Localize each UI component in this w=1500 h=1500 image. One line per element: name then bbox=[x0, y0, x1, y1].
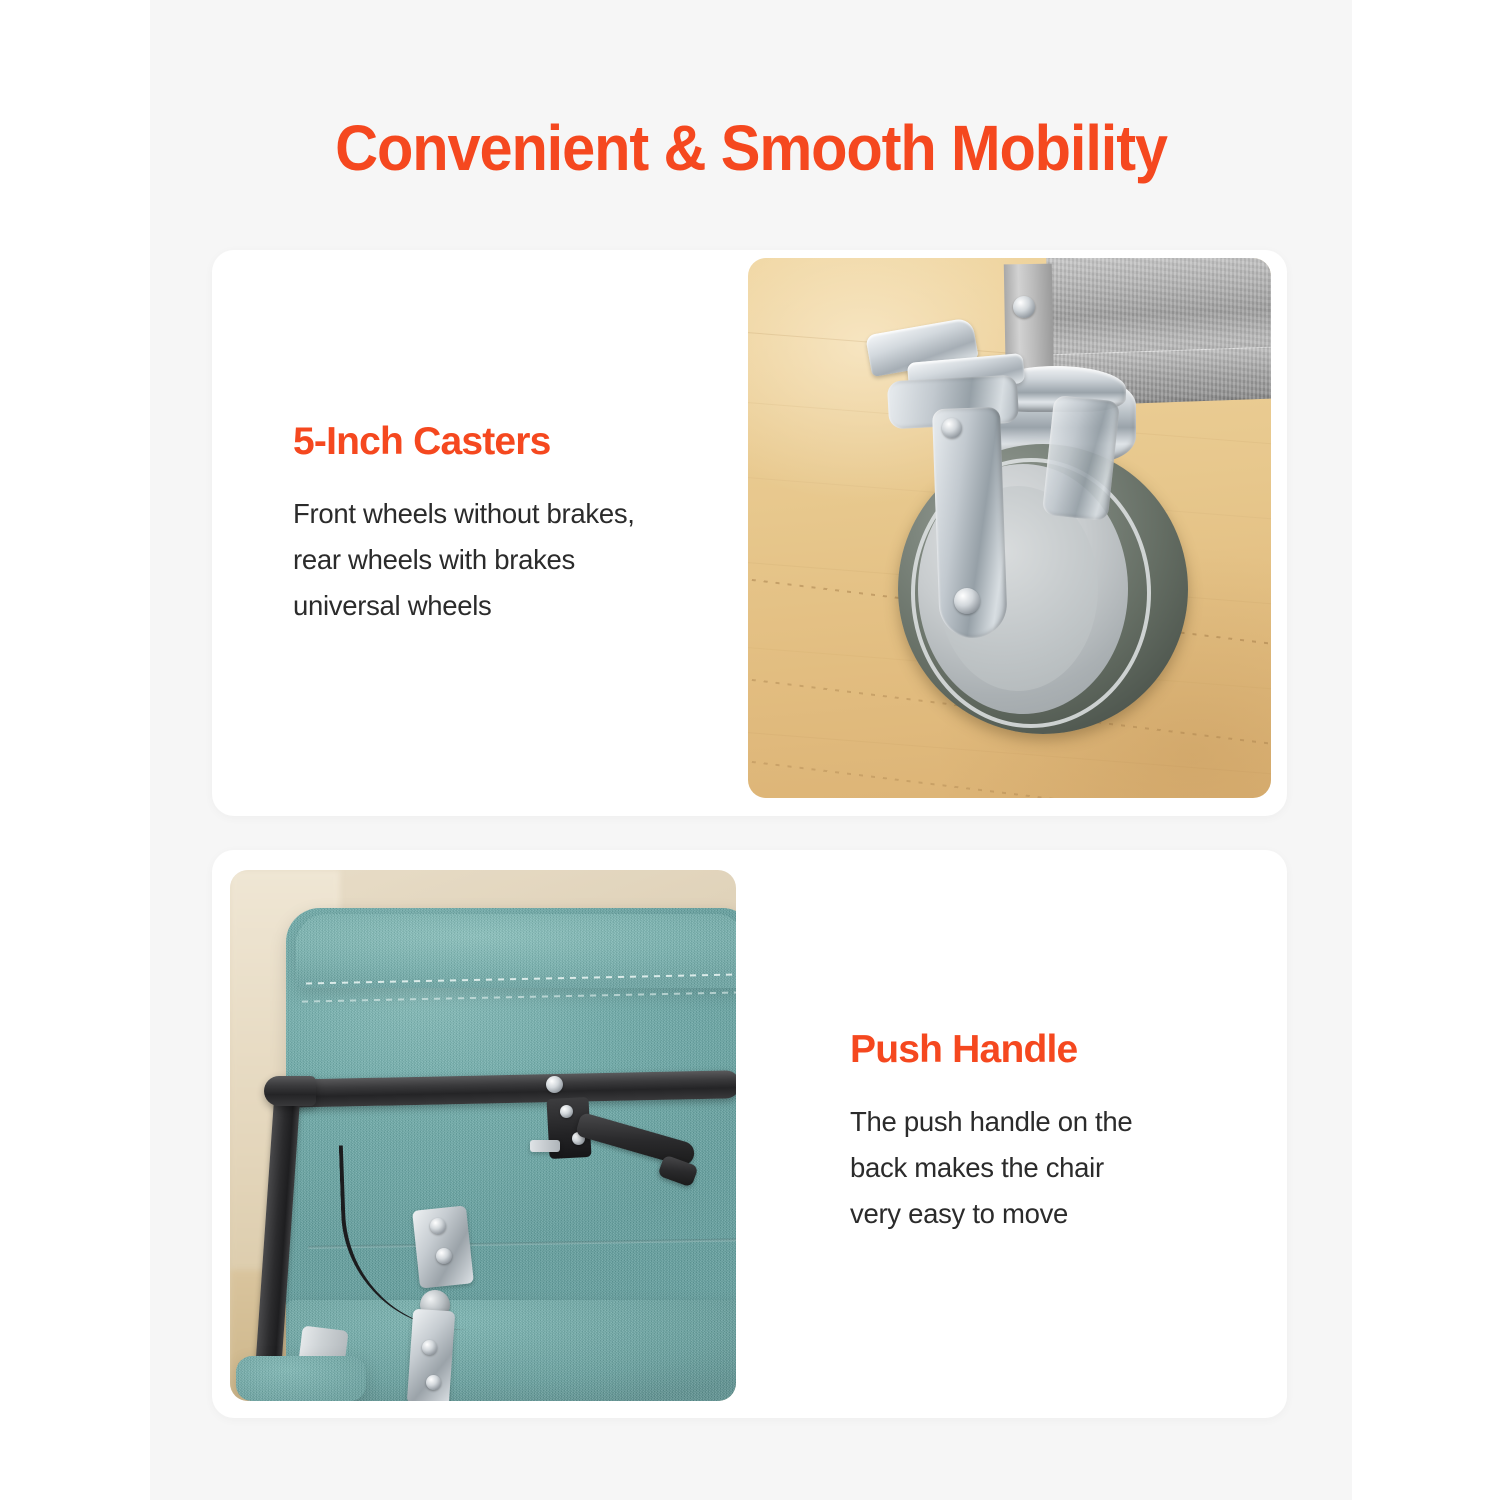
infographic-page: Convenient & Smooth Mobility 5-Inch Cast… bbox=[0, 0, 1500, 1500]
push-handle-text-block: Push Handle The push handle on the back … bbox=[850, 1028, 1270, 1237]
push-handle-body: The push handle on the back makes the ch… bbox=[850, 1099, 1270, 1238]
casters-body-line-2: rear wheels with brakes bbox=[293, 537, 753, 583]
chair-back-top-roll bbox=[296, 914, 736, 988]
caster-rivet-upper bbox=[942, 418, 962, 438]
steel-mounting-bracket bbox=[412, 1205, 474, 1288]
push-handle-body-line-3: very easy to move bbox=[850, 1191, 1270, 1237]
casters-text-block: 5-Inch Casters Front wheels without brak… bbox=[293, 420, 753, 629]
caster-fork-leg-back bbox=[1042, 395, 1120, 521]
caster-wheel-photo bbox=[748, 258, 1271, 798]
bracket-screw-top bbox=[430, 1218, 446, 1234]
casters-body-line-1: Front wheels without brakes, bbox=[293, 491, 753, 537]
push-handle-heading: Push Handle bbox=[850, 1028, 1270, 1073]
frame-screw bbox=[1013, 296, 1035, 318]
push-handle-elbow bbox=[264, 1076, 316, 1106]
page-title: Convenient & Smooth Mobility bbox=[192, 113, 1310, 183]
handle-bar-screw bbox=[546, 1076, 563, 1093]
casters-body-line-3: universal wheels bbox=[293, 583, 753, 629]
push-handle-photo bbox=[230, 870, 736, 1401]
casters-heading: 5-Inch Casters bbox=[293, 420, 753, 465]
caster-rivet-lower bbox=[954, 588, 980, 614]
push-handle-body-line-2: back makes the chair bbox=[850, 1145, 1270, 1191]
feature-card-push-handle: Push Handle The push handle on the back … bbox=[212, 850, 1287, 1418]
feature-card-casters: 5-Inch Casters Front wheels without brak… bbox=[212, 250, 1287, 816]
bracket-rivet bbox=[422, 1340, 437, 1355]
cable-ferrule bbox=[530, 1140, 560, 1152]
brake-clamp-screw bbox=[560, 1105, 573, 1118]
push-handle-body-line-1: The push handle on the bbox=[850, 1099, 1270, 1145]
casters-body: Front wheels without brakes, rear wheels… bbox=[293, 491, 753, 630]
bracket-screw-bottom bbox=[436, 1248, 452, 1264]
chair-armrest-pad bbox=[236, 1356, 366, 1401]
bracket-rivet bbox=[426, 1375, 441, 1390]
